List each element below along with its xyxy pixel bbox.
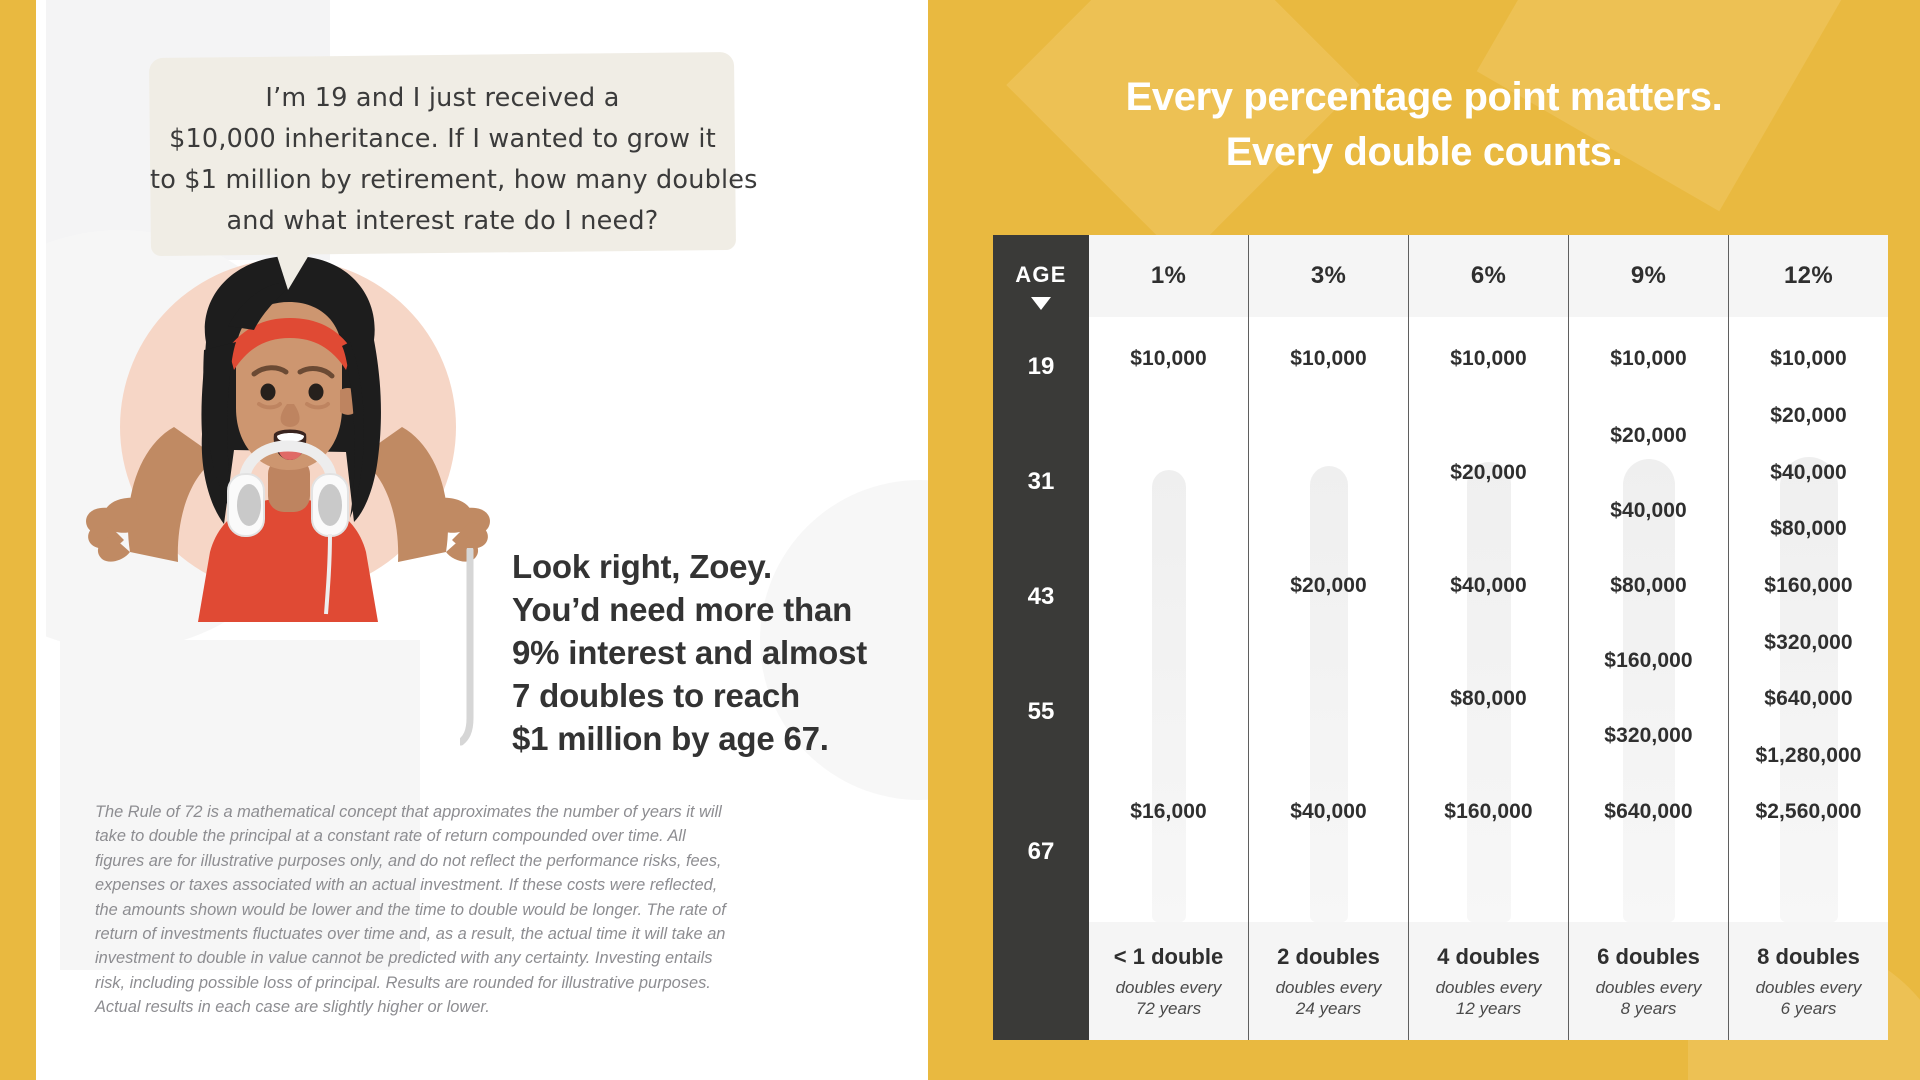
cell-value: $20,000 [1729,404,1888,428]
cell-value: $640,000 [1569,800,1728,824]
cell-value: $20,000 [1409,461,1568,485]
cell-value: $10,000 [1569,347,1728,371]
doubles-label: 4 doubles [1408,944,1568,970]
doubles-note-line-1: doubles every [1089,977,1248,998]
column-footer-3pct: 2 doubles doubles every 24 years [1248,922,1408,1040]
rate-column-1pct[interactable]: 1% $10,000 $16,000 < 1 double doubles ev… [1089,235,1248,1040]
disclaimer-line: take to double the principal at a consta… [95,824,895,848]
doubles-note-line-2: 12 years [1408,998,1568,1019]
cell-value: $20,000 [1569,424,1728,448]
quote-line-4: 7 doubles to reach [512,674,907,717]
cell-value: $40,000 [1409,574,1568,598]
cell-value: $80,000 [1409,687,1568,711]
quote-line-2: You’d need more than [512,588,907,631]
age-column-header: AGE [993,262,1089,288]
cell-value: $10,000 [1089,347,1248,371]
right-panel: Every percentage point matters. Every do… [928,0,1920,1080]
doubles-note-line-1: doubles every [1568,977,1728,998]
growth-cone [1623,459,1675,922]
doubles-note: doubles every 8 years [1568,977,1728,1019]
quote-line-3: 9% interest and almost [512,631,907,674]
cell-value: $80,000 [1729,517,1888,541]
doubles-note-line-1: doubles every [1408,977,1568,998]
cell-value: $16,000 [1089,800,1248,824]
cell-value: $20,000 [1249,574,1408,598]
left-panel: I’m 19 and I just received a $10,000 inh… [0,0,928,1080]
doubles-note-line-1: doubles every [1248,977,1408,998]
doubles-label: 2 doubles [1248,944,1408,970]
speech-bubble-text: I’m 19 and I just received a $10,000 inh… [150,78,735,242]
rate-column-12pct[interactable]: 12% $10,000 $20,000 $40,000 $80,000 $160… [1728,235,1888,1040]
doubles-note: doubles every 72 years [1089,977,1248,1019]
cell-value: $640,000 [1729,687,1888,711]
speech-bubble-line-4: and what interest rate do I need? [150,201,735,242]
rate-header-9pct: 9% [1568,235,1728,317]
rate-columns: 1% $10,000 $16,000 < 1 double doubles ev… [1089,235,1888,1040]
quote-brace-icon [460,548,476,746]
cell-value: $320,000 [1569,724,1728,748]
column-footer-12pct: 8 doubles doubles every 6 years [1728,922,1888,1040]
age-label-19: 19 [993,353,1089,381]
disclaimer-line: Actual results in each case are slightly… [95,995,895,1019]
disclaimer-line: figures are for illustrative purposes on… [95,849,895,873]
growth-cone [1152,470,1186,922]
disclaimer-line: risk, including possible loss of princip… [95,971,895,995]
doubles-note: doubles every 6 years [1728,977,1888,1019]
column-footer-9pct: 6 doubles doubles every 8 years [1568,922,1728,1040]
left-white-gutter [36,0,46,1080]
doubles-note-line-2: 8 years [1568,998,1728,1019]
column-footer-6pct: 4 doubles doubles every 12 years [1408,922,1568,1040]
rate-header-1pct: 1% [1089,235,1248,317]
cell-value: $10,000 [1729,347,1888,371]
left-yellow-edge-strip [0,0,36,1080]
doubles-label: 6 doubles [1568,944,1728,970]
rate-header-6pct: 6% [1408,235,1568,317]
cell-value: $10,000 [1409,347,1568,371]
disclaimer-line: investment to double in value cannot be … [95,946,895,970]
rate-header-3pct: 3% [1248,235,1408,317]
doubles-note-line-2: 6 years [1728,998,1888,1019]
cell-value: $40,000 [1729,461,1888,485]
age-column: AGE 19 31 43 55 67 [993,235,1089,1040]
age-label-43: 43 [993,583,1089,611]
cell-value: $40,000 [1249,800,1408,824]
disclaimer-line: return of investments fluctuates over ti… [95,922,895,946]
doubles-note: doubles every 24 years [1248,977,1408,1019]
advisor-quote: Look right, Zoey. You’d need more than 9… [512,545,907,760]
speech-bubble-line-2: $10,000 inheritance. If I wanted to grow… [150,119,735,160]
doubles-note: doubles every 12 years [1408,977,1568,1019]
rate-column-9pct[interactable]: 9% $10,000 $20,000 $40,000 $80,000 $160,… [1568,235,1728,1040]
quote-line-5: $1 million by age 67. [512,717,907,760]
column-footer-1pct: < 1 double doubles every 72 years [1089,922,1248,1040]
panel-title: Every percentage point matters. Every do… [928,70,1920,180]
rate-header-12pct: 12% [1728,235,1888,317]
cell-value: $2,560,000 [1729,800,1888,824]
chevron-down-icon [1031,297,1051,310]
cell-value: $160,000 [1409,800,1568,824]
age-label-55: 55 [993,698,1089,726]
panel-title-line-2: Every double counts. [928,125,1920,180]
rate-column-3pct[interactable]: 3% $10,000 $20,000 $40,000 2 doubles dou… [1248,235,1408,1040]
disclaimer-text: The Rule of 72 is a mathematical concept… [95,800,895,1020]
doubles-note-line-2: 24 years [1248,998,1408,1019]
doubles-label: < 1 double [1089,944,1248,970]
growth-cone [1310,466,1348,922]
disclaimer-line: the amounts shown would be lower and the… [95,898,895,922]
cell-value: $10,000 [1249,347,1408,371]
age-label-31: 31 [993,468,1089,496]
doubles-note-line-1: doubles every [1728,977,1888,998]
rule-of-72-table: AGE 19 31 43 55 67 1% $10,000 $16,000 < … [993,235,1888,1040]
cell-value: $80,000 [1569,574,1728,598]
cell-value: $160,000 [1569,649,1728,673]
cell-value: $160,000 [1729,574,1888,598]
doubles-label: 8 doubles [1728,944,1888,970]
age-label-67: 67 [993,838,1089,866]
panel-title-line-1: Every percentage point matters. [928,70,1920,125]
cell-value: $40,000 [1569,499,1728,523]
speech-bubble-line-3: to $1 million by retirement, how many do… [150,160,735,201]
disclaimer-line: The Rule of 72 is a mathematical concept… [95,800,895,824]
quote-line-1: Look right, Zoey. [512,545,907,588]
cell-value: $320,000 [1729,631,1888,655]
rate-column-6pct[interactable]: 6% $10,000 $20,000 $40,000 $80,000 $160,… [1408,235,1568,1040]
cell-value: $1,280,000 [1729,744,1888,768]
doubles-note-line-2: 72 years [1089,998,1248,1019]
speech-bubble-line-1: I’m 19 and I just received a [150,78,735,119]
disclaimer-line: expenses or taxes associated with an act… [95,873,895,897]
